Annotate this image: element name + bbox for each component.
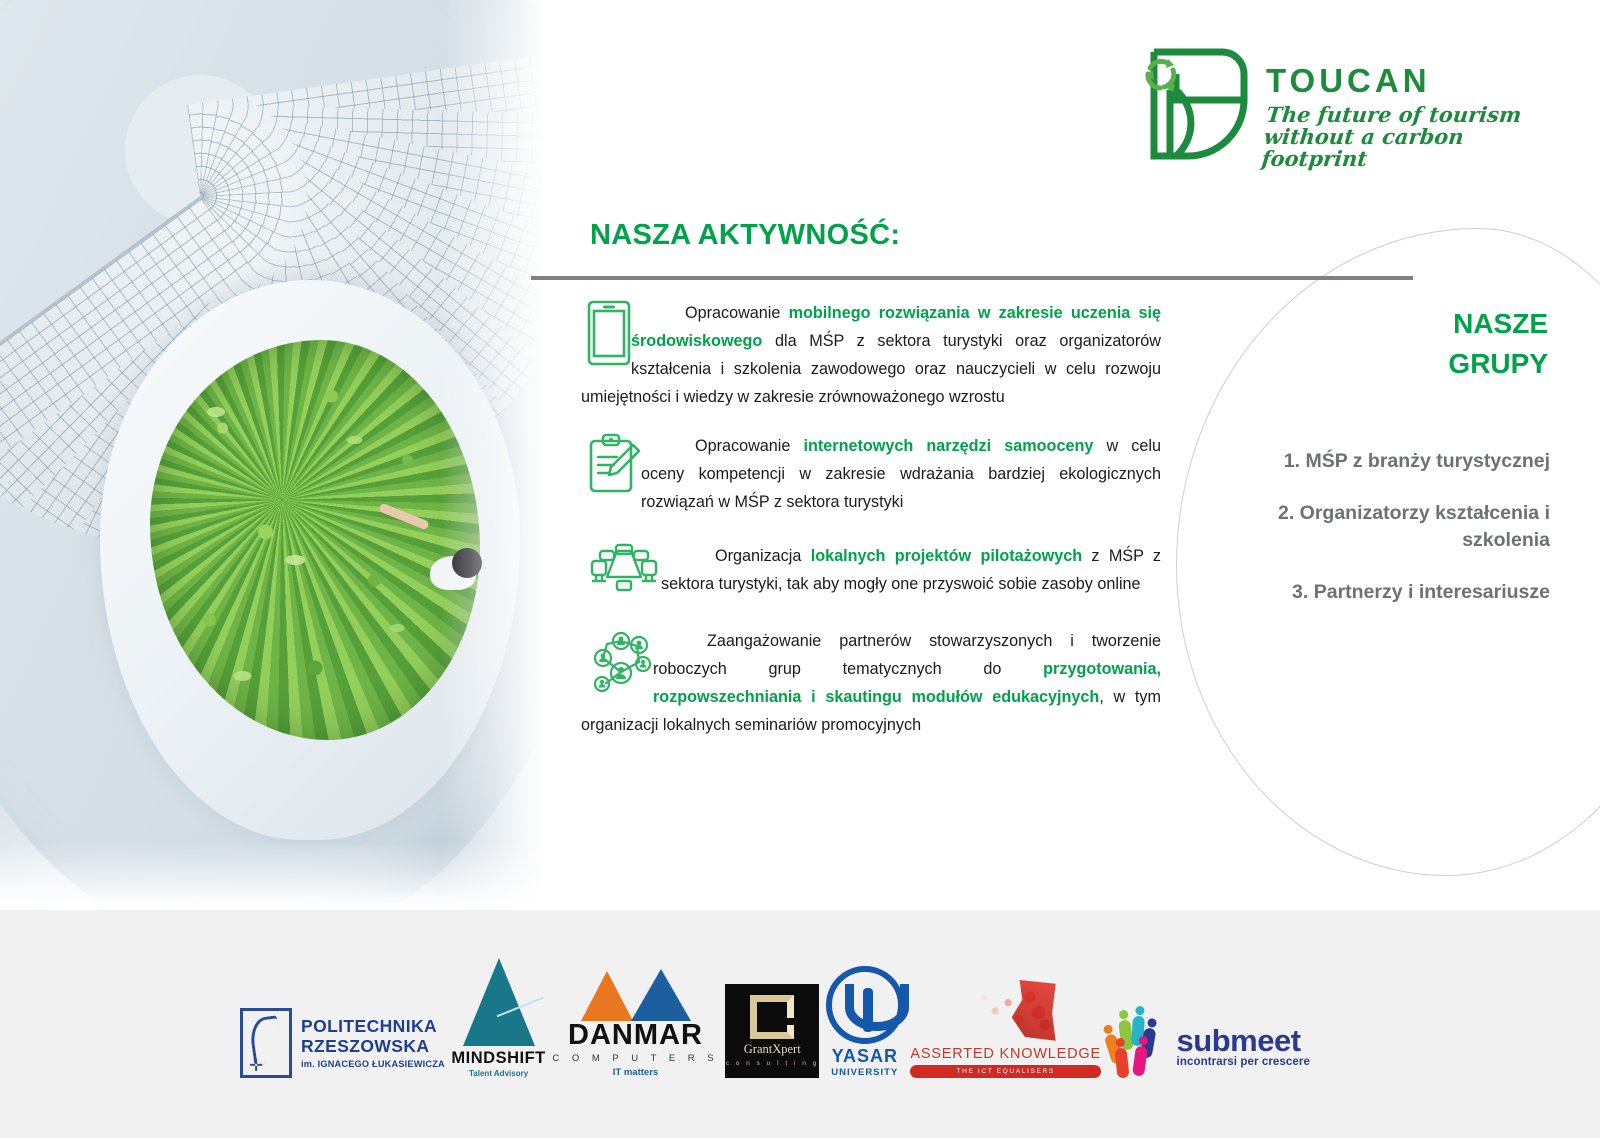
politechnika-crest-icon [240, 1008, 292, 1078]
title-divider [531, 276, 1413, 280]
activity-item: Opracowanie internetowych narzędzi samoo… [581, 433, 1161, 517]
partner-name-line2: RZESZOWSKA [301, 1037, 445, 1057]
partner-logo-grantxpert: GrantXpert c o n s u l t i n g [725, 984, 819, 1078]
activity-item: Opracowanie mobilnego rozwiązania w zakr… [581, 300, 1161, 411]
toucan-recycle-logo-icon [1118, 38, 1258, 175]
partner-name: GrantXpert [744, 1042, 801, 1057]
activities-list: Opracowanie mobilnego rozwiązania w zakr… [581, 300, 1161, 745]
partner-subtitle: C O M P U T E R S [552, 1053, 718, 1064]
hero-fade-bottom [0, 842, 560, 912]
partners-footer: POLITECHNIKA RZESZOWSKA im. IGNACEGO ŁUK… [0, 910, 1600, 1138]
partner-tagline: Talent Advisory [451, 1069, 545, 1078]
partner-name: ASSERTED KNOWLEDGE [910, 1046, 1101, 1062]
groups-list: 1. MŚP z branży turystycznej 2. Organiza… [1190, 448, 1550, 631]
groups-title-line1: NASZE [1236, 304, 1548, 344]
group-item: 1. MŚP z branży turystycznej [1190, 448, 1550, 474]
asserted-knowledge-face-icon [952, 976, 1060, 1046]
partner-name: MINDSHIFT [451, 1049, 545, 1068]
body-text: Opracowanie [685, 304, 789, 322]
groups-title-line2: GRUPY [1236, 344, 1548, 384]
partner-name: YASAR [826, 1046, 904, 1067]
grantxpert-mark-icon: GrantXpert c o n s u l t i n g [725, 984, 819, 1078]
conference-table-icon [587, 543, 661, 602]
people-network-icon [587, 628, 653, 699]
yasar-emblem-icon [826, 966, 904, 1044]
activity-text: Opracowanie internetowych narzędzi samoo… [581, 433, 1161, 517]
partner-logo-danmar-computers: DANMAR C O M P U T E R S IT matters [552, 969, 718, 1078]
partner-logos: POLITECHNIKA RZESZOWSKA im. IGNACEGO ŁUK… [240, 938, 1310, 1078]
groups-title: NASZE GRUPY [1236, 304, 1548, 384]
partner-subtitle: c o n s u l t i n g [726, 1060, 819, 1067]
smartphone-icon [587, 300, 631, 371]
activity-text: Zaangażowanie partnerów stowarzyszonych … [581, 628, 1161, 739]
clipboard-pencil-icon [587, 433, 641, 500]
hero-fade-right [440, 0, 560, 912]
mindshift-triangle-icon [463, 958, 535, 1046]
brand-logo: TOUCAN The future of tourism without a c… [1118, 38, 1548, 178]
partner-logo-politechnika-rzeszowska: POLITECHNIKA RZESZOWSKA im. IGNACEGO ŁUK… [240, 1008, 445, 1078]
brand-tagline-line1: The future of tourism [1265, 104, 1557, 126]
partner-name: DANMAR [552, 1021, 718, 1050]
activity-text: Opracowanie mobilnego rozwiązania w zakr… [581, 300, 1161, 411]
hero-image [0, 0, 560, 912]
activity-text: Organizacja lokalnych projektów pilotażo… [581, 543, 1161, 599]
body-text: Organizacja [715, 547, 811, 565]
partner-logo-asserted-knowledge: ASSERTED KNOWLEDGE THE ICT EQUALISERS [910, 976, 1101, 1078]
partner-logo-mindshift: MINDSHIFT Talent Advisory [451, 958, 545, 1078]
highlighted-phrase: lokalnych projektów pilotażowych [811, 547, 1082, 565]
partner-name-line3: im. IGNACEGO ŁUKASIEWICZA [301, 1059, 445, 1069]
group-item: 2. Organizatorzy kształcenia i szkolenia [1190, 500, 1550, 553]
partner-tagline: THE ICT EQUALISERS [910, 1065, 1101, 1078]
partner-logo-yasar-university: YASAR UNIVERSITY [826, 966, 904, 1078]
partner-logo-submeet: submeet incontrarsi per crescere [1108, 1016, 1310, 1078]
partner-tagline: incontrarsi per crescere [1177, 1056, 1310, 1068]
brand-tagline: The future of tourism without a carbon f… [1261, 104, 1558, 170]
highlighted-phrase: internetowych narzędzi samooceny [804, 437, 1094, 455]
partner-name-line1: POLITECHNIKA [301, 1017, 445, 1037]
partner-tagline: IT matters [552, 1067, 718, 1078]
body-text: Opracowanie [695, 437, 804, 455]
submeet-people-icon [1108, 1016, 1170, 1078]
danmar-peaks-icon [575, 969, 695, 1021]
brand-tagline-line2: without a carbon footprint [1261, 126, 1556, 170]
partner-subtitle: UNIVERSITY [826, 1067, 904, 1078]
brand-name: TOUCAN [1266, 62, 1431, 100]
group-item: 3. Partnerzy i interesariusze [1190, 579, 1550, 605]
activity-item: Organizacja lokalnych projektów pilotażo… [581, 543, 1161, 604]
activity-item: Zaangażowanie partnerów stowarzyszonych … [581, 628, 1161, 739]
partner-name: submeet [1177, 1026, 1310, 1055]
page-title: NASZA AKTYWNOŚĆ: [590, 219, 900, 252]
